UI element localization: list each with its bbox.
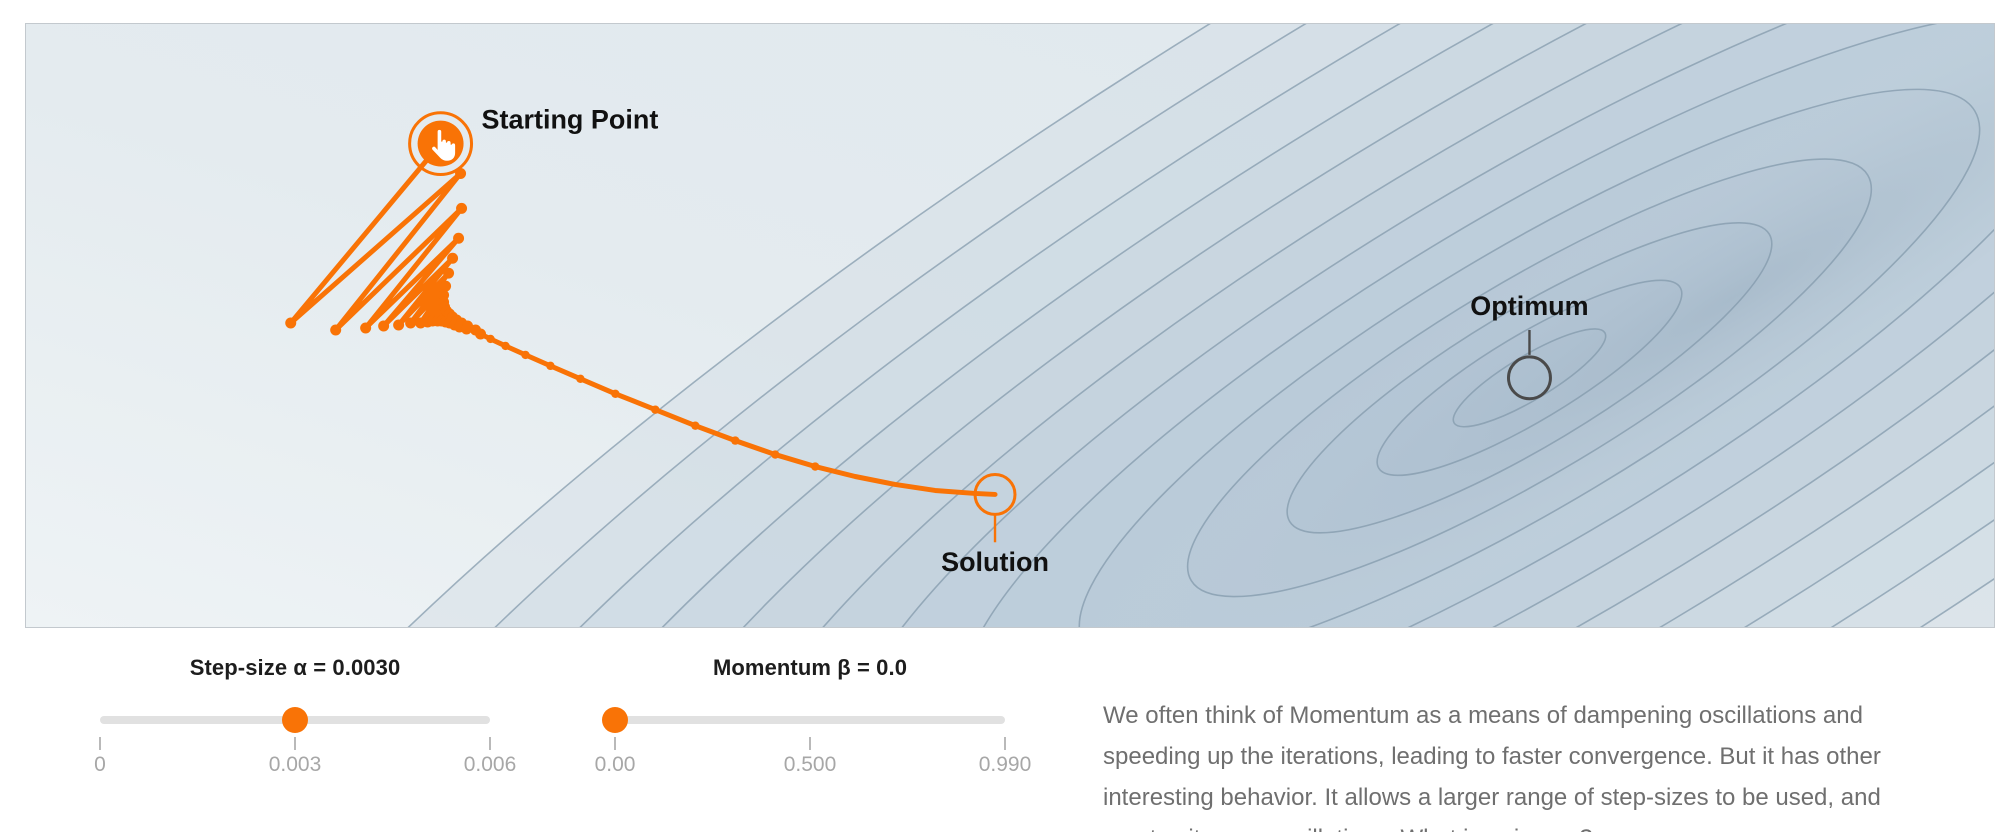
momentum-tick: 0.500: [750, 737, 870, 777]
step-size-tick-mark: [294, 737, 296, 750]
step-size-tick: 0: [40, 737, 160, 777]
momentum-tick: 0.990: [945, 737, 1065, 777]
trajectory-dot: [611, 390, 619, 398]
caption-paragraph: We often think of Momentum as a means of…: [1103, 695, 1923, 832]
step-size-tick-label: 0.006: [430, 753, 550, 777]
trajectory-dot: [486, 335, 494, 343]
step-size-tick: 0.006: [430, 737, 550, 777]
momentum-visualization-app: Starting Point Optimum Solution Step-siz…: [0, 0, 2008, 832]
contour-field: Starting Point Optimum Solution: [26, 24, 1994, 627]
trajectory-dot: [576, 375, 584, 383]
step-size-tick: 0.003: [235, 737, 355, 777]
optimum-label: Optimum: [1470, 291, 1588, 321]
trajectory-dot: [360, 323, 371, 334]
starting-point-marker-group[interactable]: [410, 113, 472, 175]
step-size-title: Step-size α = 0.0030: [80, 655, 510, 681]
step-size-ticks: 00.0030.006: [100, 737, 490, 783]
trajectory-dot: [405, 318, 416, 329]
trajectory-dot: [521, 351, 529, 359]
trajectory-dot: [771, 450, 779, 458]
contour-plot-svg[interactable]: Starting Point Optimum Solution: [26, 24, 1994, 627]
momentum-tick-mark: [614, 737, 616, 750]
step-size-slider[interactable]: [100, 707, 490, 733]
step-size-tick-label: 0: [40, 753, 160, 777]
trajectory-dot: [447, 253, 458, 264]
trajectory-dot: [731, 436, 739, 444]
step-size-tick-mark: [99, 737, 101, 750]
trajectory-dot: [378, 321, 389, 332]
solution-label: Solution: [941, 547, 1049, 577]
momentum-tick-mark: [809, 737, 811, 750]
trajectory-dot: [691, 421, 699, 429]
momentum-thumb[interactable]: [602, 707, 628, 733]
step-size-tick-label: 0.003: [235, 753, 355, 777]
momentum-slider-block: Momentum β = 0.0 0.000.5000.990: [595, 655, 1025, 783]
trajectory-dot: [475, 328, 486, 339]
momentum-tick-label: 0.990: [945, 753, 1065, 777]
momentum-track[interactable]: [615, 716, 1005, 724]
momentum-tick: 0.00: [555, 737, 675, 777]
trajectory-dot: [453, 233, 464, 244]
momentum-title: Momentum β = 0.0: [595, 655, 1025, 681]
trajectory-dot: [546, 362, 554, 370]
step-size-slider-block: Step-size α = 0.0030 00.0030.006: [80, 655, 510, 783]
trajectory-dot: [443, 268, 454, 279]
trajectory-dot: [501, 342, 509, 350]
trajectory-dot: [811, 462, 819, 470]
contour-plot-panel[interactable]: Starting Point Optimum Solution: [25, 23, 1995, 628]
trajectory-dot: [285, 318, 296, 329]
starting-point-label: Starting Point: [482, 105, 659, 135]
trajectory-dot: [651, 406, 659, 414]
momentum-slider[interactable]: [615, 707, 1005, 733]
momentum-ticks: 0.000.5000.990: [615, 737, 1005, 783]
trajectory-dot: [393, 320, 404, 331]
momentum-tick-label: 0.00: [555, 753, 675, 777]
step-size-thumb[interactable]: [282, 707, 308, 733]
step-size-tick-mark: [489, 737, 491, 750]
momentum-tick-label: 0.500: [750, 753, 870, 777]
trajectory-dot: [330, 325, 341, 336]
trajectory-dot: [456, 203, 467, 214]
momentum-tick-mark: [1004, 737, 1006, 750]
